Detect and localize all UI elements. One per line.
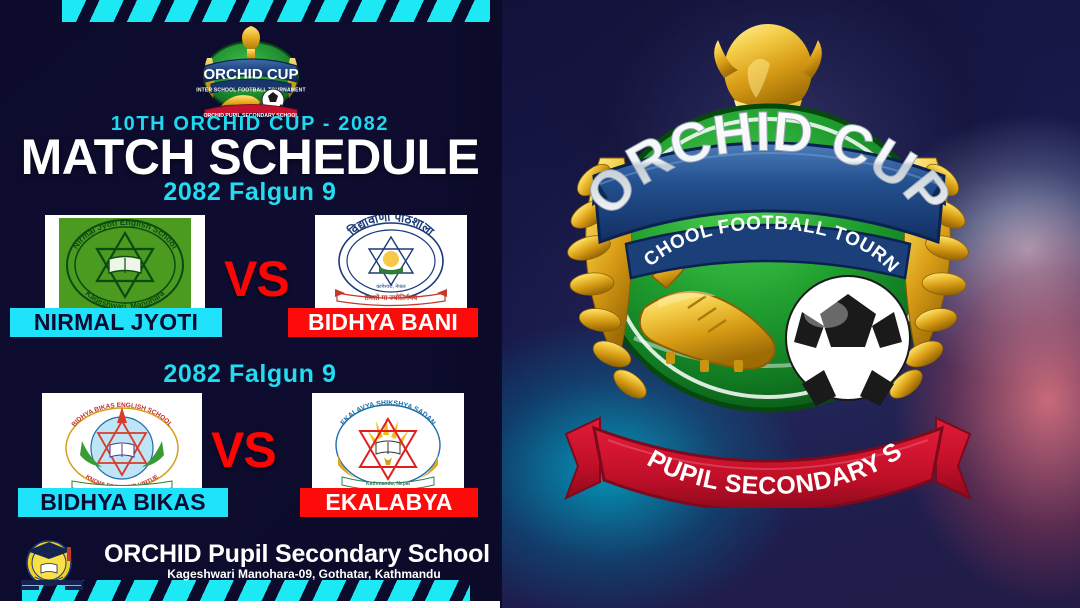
orchid-cup-header-logo-icon: ORCHID CUP INTER SCHOOL FOOTBALL TOURNAM… xyxy=(181,18,321,118)
match-1-date: 2082 Falgun 9 xyxy=(0,178,500,207)
match-2-vs-label: VS xyxy=(211,421,276,479)
bottom-white-bar xyxy=(0,601,500,608)
match-schedule-poster: ORCHID CUP INTER SCHOOL FOOTBALL TOURNAM… xyxy=(0,0,1080,608)
bottom-diagonal-stripes xyxy=(22,580,470,602)
crest-motto: तमसो मा ज्योतिर्गमय xyxy=(364,293,418,302)
match-1-home-team-label: NIRMAL JYOTI xyxy=(10,308,222,337)
orchid-cup-emblem-icon: ORCHID CUP INTER SCHOOL FOOTBALL TOURNAM… xyxy=(548,8,988,508)
school-crest-icon xyxy=(17,533,87,591)
match-1-home-crest-icon: Nirmal Jyoti English School Kageshwari, … xyxy=(45,215,205,315)
footer-school-name: ORCHID Pupil Secondary School xyxy=(104,540,504,569)
page-title: MATCH SCHEDULE xyxy=(0,131,500,183)
match-1-vs-label: VS xyxy=(224,250,289,308)
match-2-home-team-label: BIDHYA BIKAS xyxy=(18,488,228,517)
match-2-away-crest-icon: EKALAVYA SHIKSHYA SADAN Kathmandu, Nepal xyxy=(312,393,464,500)
match-2-home-crest-icon: BIDHYA BIKAS ENGLISH SCHOOL KNOWLEDGE AN… xyxy=(42,393,202,500)
match-2-date: 2082 Falgun 9 xyxy=(0,360,500,389)
match-1-away-crest-icon: विद्यावाणी पाठशाला कागेश्वरी, नेपाल तमसो… xyxy=(315,215,467,315)
header-logo-tagline: INTER SCHOOL FOOTBALL TOURNAMENT xyxy=(196,88,305,94)
match-1-away-team-label: BIDHYA BANI xyxy=(288,308,478,337)
crest-location: कागेश्वरी, नेपाल xyxy=(376,283,406,290)
footer-school-address: Kageshwari Manohara-09, Gothatar, Kathma… xyxy=(104,567,504,581)
crest-location: Kathmandu, Nepal xyxy=(366,481,411,487)
match-2-away-team-label: EKALABYA xyxy=(300,488,478,517)
